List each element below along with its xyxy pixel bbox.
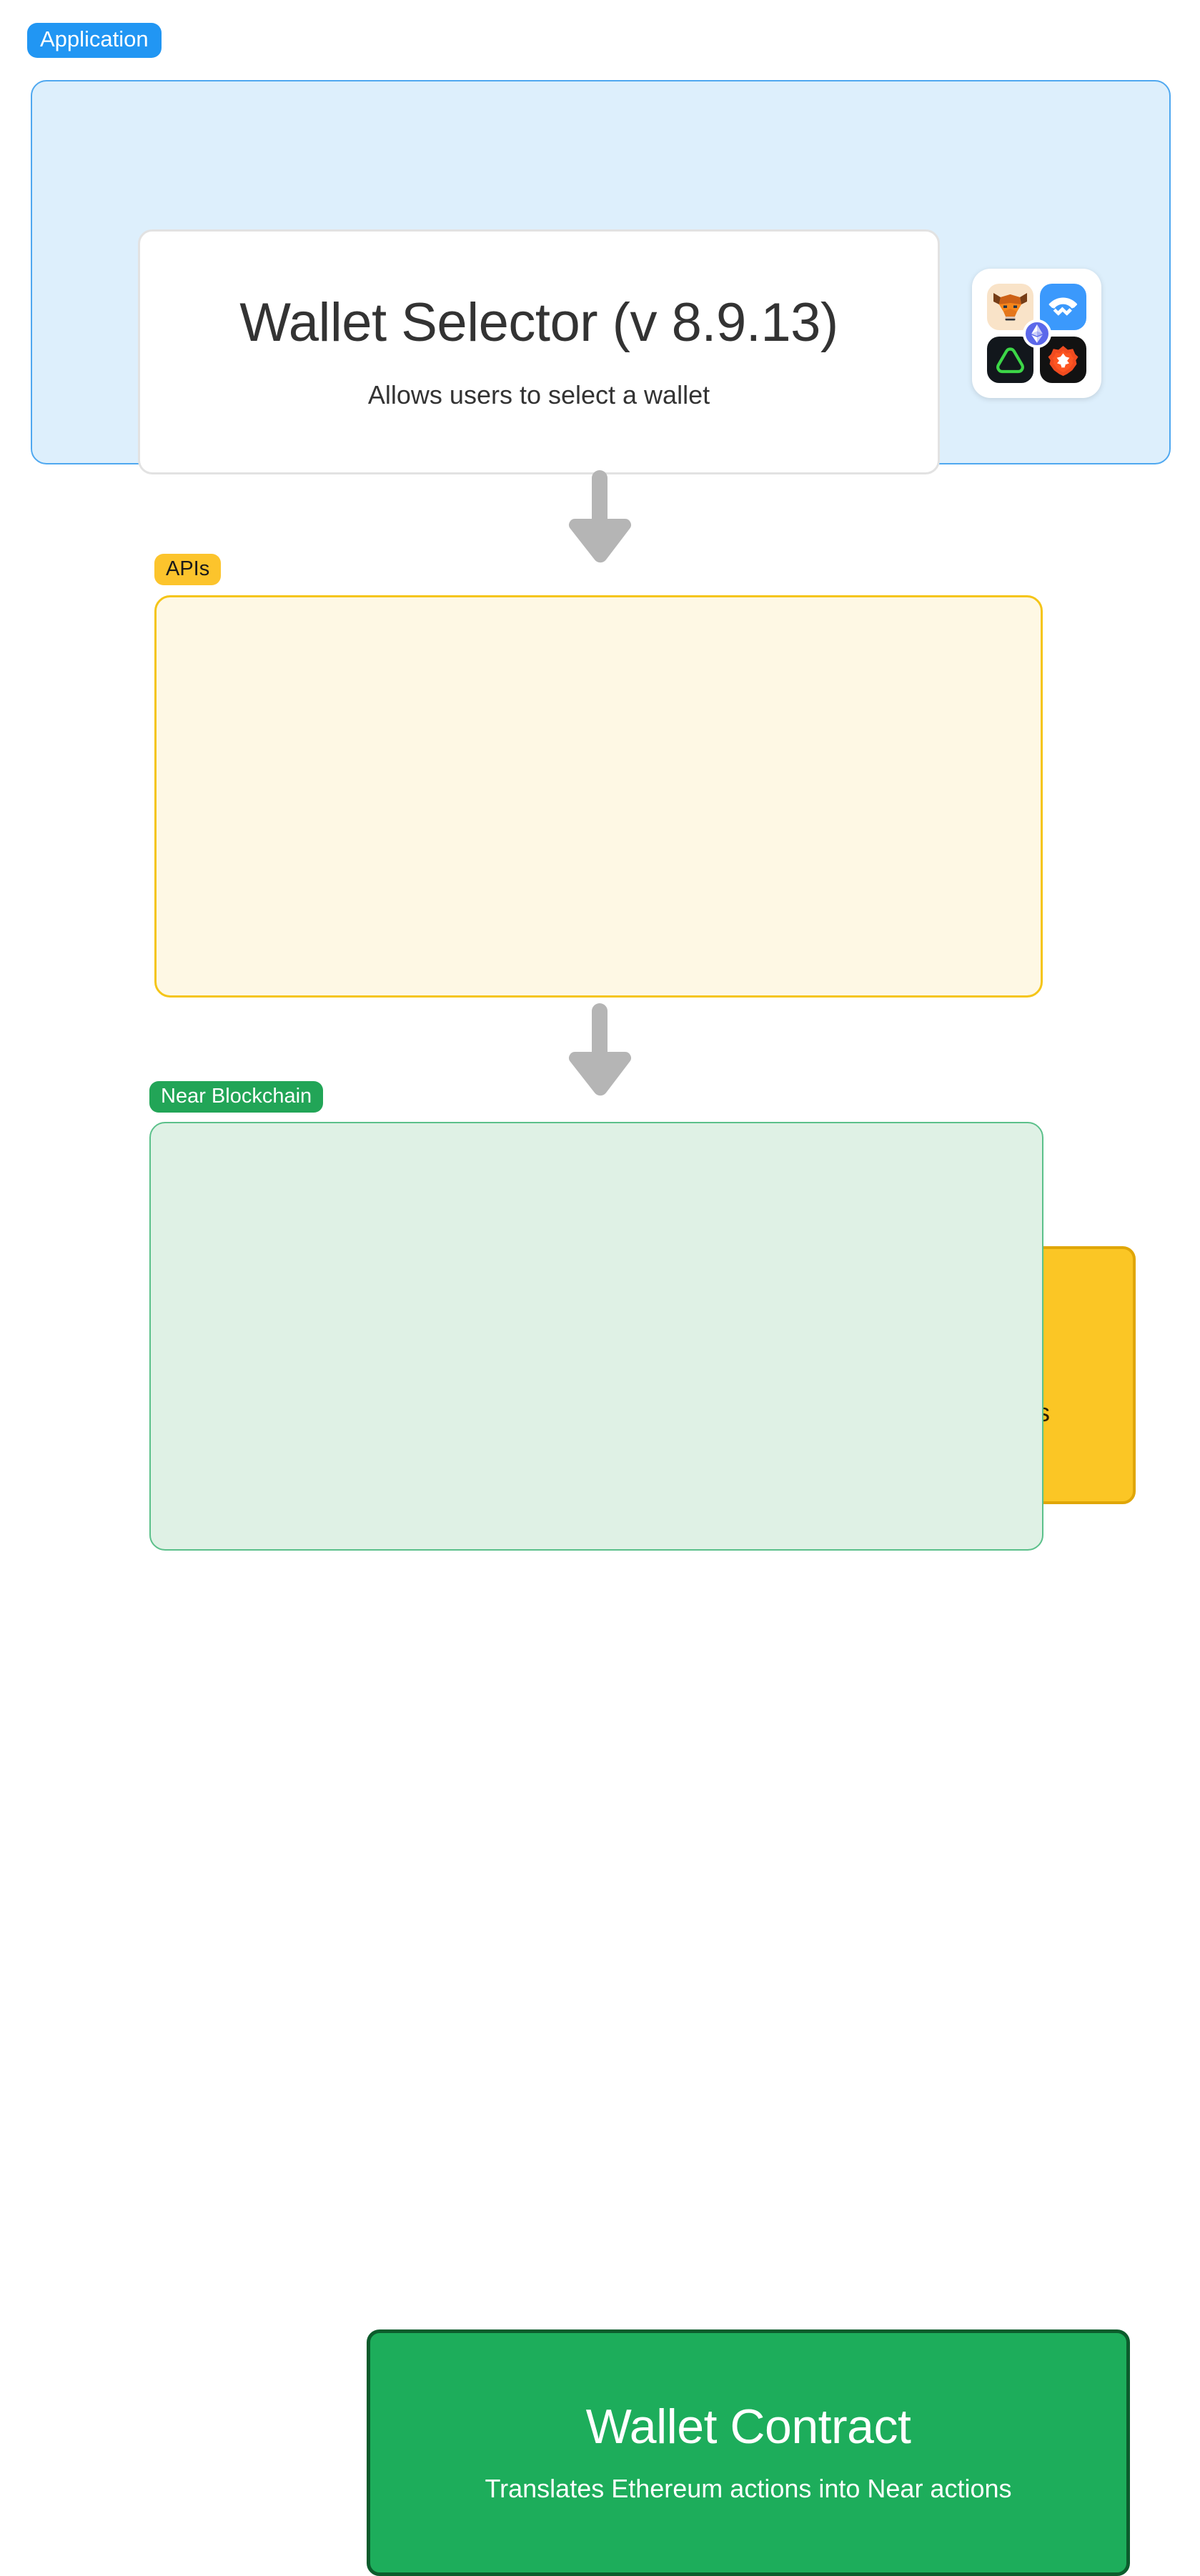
wallet-selector-title: Wallet Selector (v 8.9.13) (239, 294, 838, 352)
wallet-icon-cluster (972, 269, 1101, 398)
layer-container-application: Wallet Selector (v 8.9.13) Allows users … (31, 80, 1171, 464)
wallet-contract-title: Wallet Contract (586, 2402, 911, 2452)
wallet-selector-subtitle: Allows users to select a wallet (368, 380, 710, 410)
wallet-contract-subtitle: Translates Ethereum actions into Near ac… (485, 2474, 1011, 2504)
layer-container-apis: Translator API Translates Ethereum RPC c… (154, 595, 1043, 998)
card-wallet-selector: Wallet Selector (v 8.9.13) Allows users … (138, 229, 940, 474)
arrow-apis-to-near (567, 1000, 633, 1100)
layer-badge-near-blockchain: Near Blockchain (149, 1081, 323, 1113)
ethereum-icon (1023, 319, 1051, 348)
layer-badge-application: Application (27, 23, 162, 58)
arrow-application-to-apis (567, 467, 633, 567)
wallet-icon-grid (987, 284, 1086, 383)
diagram-canvas: Application Wallet Selector (v 8.9.13) A… (0, 0, 1200, 1578)
layer-badge-apis: APIs (154, 554, 221, 585)
layer-container-near-blockchain: Wallet Contract Translates Ethereum acti… (149, 1122, 1043, 1551)
card-wallet-contract: Wallet Contract Translates Ethereum acti… (367, 2329, 1130, 2576)
